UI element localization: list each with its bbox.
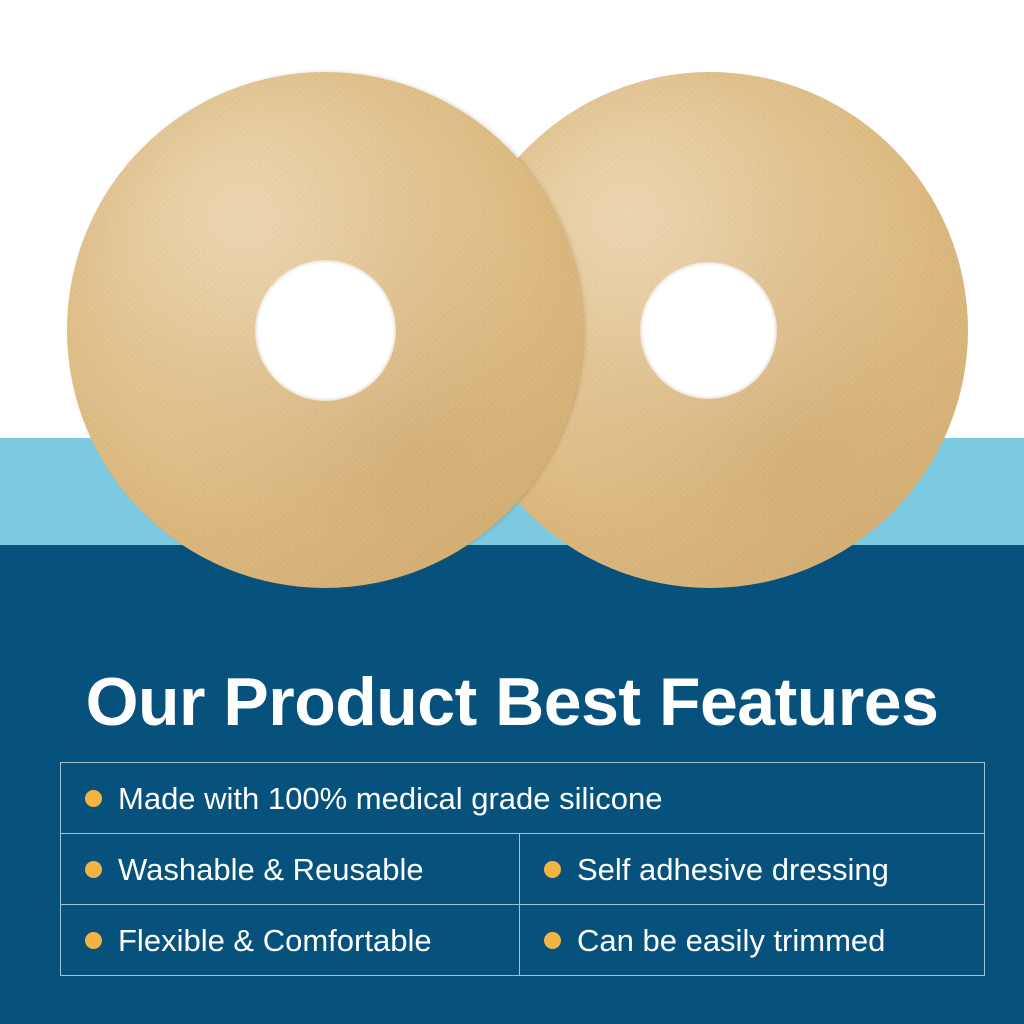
bullet-dot-icon: [544, 861, 561, 878]
feature-label: Made with 100% medical grade silicone: [118, 783, 663, 814]
features-heading: Our Product Best Features: [0, 668, 1024, 736]
product-feature-banner: Our Product Best Features Made with 100%…: [0, 0, 1024, 1024]
feature-item: Self adhesive dressing: [520, 834, 984, 904]
silicone-pad-left-center-hole: [255, 260, 396, 401]
features-table: Made with 100% medical grade silicone Wa…: [60, 762, 985, 976]
feature-label: Self adhesive dressing: [577, 854, 889, 885]
feature-item: Flexible & Comfortable: [61, 905, 520, 975]
silicone-pad-right-center-hole: [640, 262, 777, 399]
bullet-dot-icon: [85, 932, 102, 949]
bullet-dot-icon: [544, 932, 561, 949]
features-row: Flexible & Comfortable Can be easily tri…: [61, 904, 984, 975]
feature-label: Can be easily trimmed: [577, 925, 885, 956]
bullet-dot-icon: [85, 790, 102, 807]
bullet-dot-icon: [85, 861, 102, 878]
features-row: Washable & Reusable Self adhesive dressi…: [61, 833, 984, 904]
product-image: [0, 0, 1024, 620]
features-row: Made with 100% medical grade silicone: [61, 763, 984, 833]
feature-item: Made with 100% medical grade silicone: [61, 763, 984, 833]
feature-label: Flexible & Comfortable: [118, 925, 432, 956]
feature-item: Washable & Reusable: [61, 834, 520, 904]
feature-label: Washable & Reusable: [118, 854, 424, 885]
feature-item: Can be easily trimmed: [520, 905, 984, 975]
